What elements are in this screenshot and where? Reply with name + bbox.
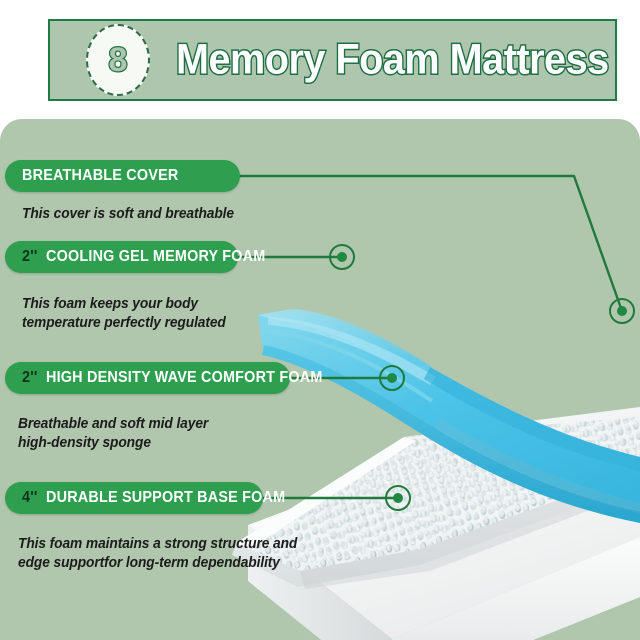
callout-pill-breathable-cover[interactable]: BREATHABLE COVER bbox=[5, 160, 240, 192]
callout-label-breathable-cover: BREATHABLE COVER bbox=[22, 168, 178, 184]
infographic-root: 8 Memory Foam Mattress bbox=[0, 0, 640, 640]
callout-description-durable-support-base-foam: This foam maintains a strong structure a… bbox=[18, 535, 332, 573]
callout-depth-cooling-gel-memory-foam: 2'' bbox=[22, 249, 37, 265]
callout-pill-cooling-gel-memory-foam[interactable]: 2'' COOLING GEL MEMORY FOAM bbox=[5, 241, 238, 273]
content-panel: BREATHABLE COVER This cover is soft and … bbox=[0, 119, 640, 640]
callout-depth-high-density-wave-comfort-foam: 2'' bbox=[22, 370, 37, 386]
callout-label-durable-support-base-foam: DURABLE SUPPORT BASE FOAM bbox=[46, 490, 285, 506]
callout-label-cooling-gel-memory-foam: COOLING GEL MEMORY FOAM bbox=[46, 249, 265, 265]
callout-description-breathable-cover: This cover is soft and breathable bbox=[22, 205, 307, 224]
step-number-badge: 8 bbox=[86, 24, 150, 96]
header-inner: 8 Memory Foam Mattress bbox=[50, 21, 615, 99]
header-band: 8 Memory Foam Mattress bbox=[48, 19, 617, 101]
page-title: Memory Foam Mattress bbox=[176, 39, 609, 82]
callout-description-cooling-gel-memory-foam: This foam keeps your body temperature pe… bbox=[22, 295, 307, 333]
callout-description-high-density-wave-comfort-foam: Breathable and soft mid layer high-densi… bbox=[18, 415, 303, 453]
callout-label-high-density-wave-comfort-foam: HIGH DENSITY WAVE COMFORT FOAM bbox=[46, 370, 323, 386]
callout-pill-high-density-wave-comfort-foam[interactable]: 2'' HIGH DENSITY WAVE COMFORT FOAM bbox=[5, 362, 290, 394]
step-number-text: 8 bbox=[109, 43, 128, 77]
callout-depth-durable-support-base-foam: 4'' bbox=[22, 490, 37, 506]
callout-pill-durable-support-base-foam[interactable]: 4'' DURABLE SUPPORT BASE FOAM bbox=[5, 482, 263, 514]
